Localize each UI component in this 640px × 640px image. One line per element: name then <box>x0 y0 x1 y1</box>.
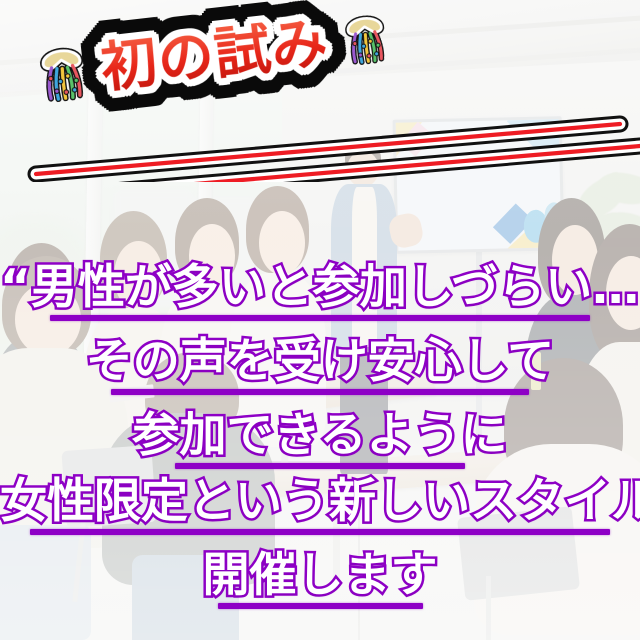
party-popper-icon <box>26 37 99 110</box>
cup-prop <box>250 368 265 387</box>
attendee-foreground-right <box>474 358 640 640</box>
attendee-head <box>15 283 82 356</box>
bottle-prop <box>531 352 541 390</box>
tv-shape-blue-tr <box>506 117 564 161</box>
poster-canvas: 初の試み <box>0 0 640 640</box>
attendee-head <box>189 224 235 288</box>
side-table-leg-1 <box>333 480 340 582</box>
presenter-inner-shirt <box>352 187 377 347</box>
attendee-trousers <box>132 555 238 640</box>
presenter-trousers <box>340 347 388 473</box>
chair-1 <box>61 445 156 528</box>
presenter <box>320 141 410 474</box>
party-popper-icon <box>333 6 399 72</box>
chair-2-leg <box>486 576 491 640</box>
presenter-head <box>347 151 379 188</box>
chair-2 <box>457 506 580 601</box>
